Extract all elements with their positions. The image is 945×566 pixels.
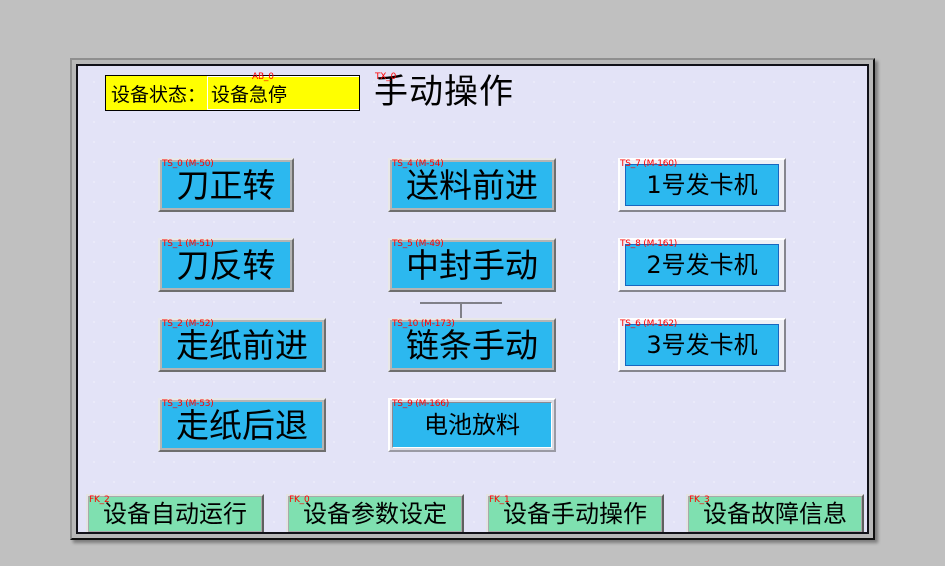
fkey-label: 设备参数设定 (303, 502, 447, 526)
hmi-screen: 设备状态： 设备急停 AB_0 TX_0 手动操作 刀正转 TS_0 (M-50… (76, 64, 869, 534)
button-face: 走纸后退 (162, 402, 322, 448)
fkey-fault-info[interactable]: 设备故障信息 (686, 494, 864, 534)
button-center-seal-manual[interactable]: 中封手动 (388, 238, 556, 292)
button-chain-manual[interactable]: 链条手动 (388, 318, 556, 372)
button-face: 刀反转 (162, 242, 290, 288)
button-card-dispenser-1[interactable]: 1号发卡机 (618, 158, 786, 212)
fkey-label: 设备故障信息 (703, 502, 847, 526)
button-label: 走纸前进 (176, 329, 308, 362)
button-knife-forward[interactable]: 刀正转 (158, 158, 294, 212)
button-face: 送料前进 (392, 162, 552, 208)
fkey-face: 设备故障信息 (689, 497, 861, 531)
fkey-label: 设备自动运行 (103, 502, 247, 526)
button-face: 走纸前进 (162, 322, 322, 368)
fkey-face: 设备自动运行 (89, 497, 261, 531)
hmi-panel: 设备状态： 设备急停 AB_0 TX_0 手动操作 刀正转 TS_0 (M-50… (70, 58, 875, 540)
button-face: 2号发卡机 (625, 244, 779, 286)
status-bar: 设备状态： 设备急停 (105, 75, 360, 111)
button-label: 送料前进 (406, 169, 538, 202)
status-value-text: 设备急停 (208, 80, 287, 107)
button-label: 3号发卡机 (646, 333, 757, 357)
button-face: 中封手动 (392, 242, 552, 288)
button-label: 1号发卡机 (646, 173, 757, 197)
button-face: 刀正转 (162, 162, 290, 208)
button-face: 1号发卡机 (625, 164, 779, 206)
button-knife-reverse[interactable]: 刀反转 (158, 238, 294, 292)
button-label: 走纸后退 (176, 409, 308, 442)
button-label: 刀正转 (177, 169, 276, 202)
button-label: 中封手动 (406, 249, 538, 282)
button-label: 2号发卡机 (646, 253, 757, 277)
button-material-feed-forward[interactable]: 送料前进 (388, 158, 556, 212)
fkey-manual-operation[interactable]: 设备手动操作 (486, 494, 664, 534)
button-paper-feed-reverse[interactable]: 走纸后退 (158, 398, 326, 452)
button-face: 电池放料 (392, 402, 552, 448)
button-label: 电池放料 (424, 413, 520, 437)
button-label: 刀反转 (177, 249, 276, 282)
button-paper-feed-forward[interactable]: 走纸前进 (158, 318, 326, 372)
status-value-field: 设备急停 (207, 76, 359, 110)
button-face: 3号发卡机 (625, 324, 779, 366)
button-label: 链条手动 (406, 329, 538, 362)
button-face: 链条手动 (392, 322, 552, 368)
button-battery-discharge[interactable]: 电池放料 (388, 398, 556, 452)
button-card-dispenser-3[interactable]: 3号发卡机 (618, 318, 786, 372)
fkey-face: 设备手动操作 (489, 497, 661, 531)
status-bar-label: 设备状态： (106, 80, 206, 107)
button-card-dispenser-2[interactable]: 2号发卡机 (618, 238, 786, 292)
page-title: 手动操作 (374, 70, 514, 114)
fkey-parameter-setting[interactable]: 设备参数设定 (286, 494, 464, 534)
fkey-face: 设备参数设定 (289, 497, 461, 531)
fkey-label: 设备手动操作 (503, 502, 647, 526)
fkey-auto-run[interactable]: 设备自动运行 (86, 494, 264, 534)
